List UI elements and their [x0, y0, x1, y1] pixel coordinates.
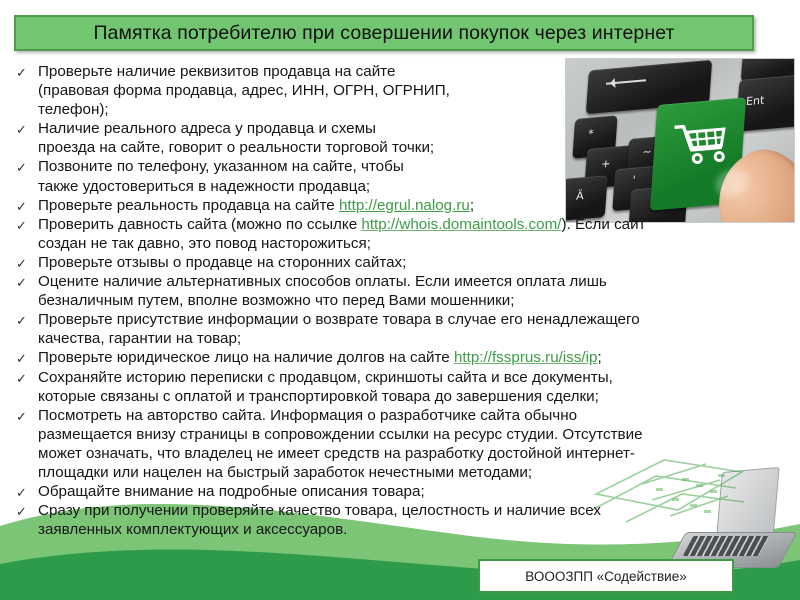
text-run: создан не так давно, это повод насторожи…: [38, 235, 371, 252]
text-run: ;: [597, 349, 601, 366]
checklist-item-check-on-receipt: ✓Сразу при получении проверяйте качество…: [0, 501, 800, 539]
text-run: Проверьте отзывы о продавце на сторонних…: [38, 254, 406, 271]
check-icon: ✓: [16, 273, 27, 292]
check-icon: ✓: [16, 369, 27, 388]
checklist-line: размещается внизу страницы в сопровожден…: [38, 425, 794, 444]
checklist-item-save-history: ✓Сохраняйте историю переписки с продавцо…: [0, 368, 800, 406]
checklist-line: Посмотреть на авторство сайта. Информаци…: [38, 406, 794, 425]
check-icon: ✓: [16, 197, 27, 216]
checklist-line: безналичным путем, вполне возможно что п…: [38, 291, 794, 310]
text-run: размещается внизу страницы в сопровожден…: [38, 426, 643, 443]
external-link[interactable]: http://egrul.nalog.ru: [339, 197, 470, 214]
checklist-item-real-address: ✓Наличие реального адреса у продавца и с…: [0, 119, 800, 157]
checklist-item-egrul-check: ✓Проверьте реальность продавца на сайте …: [0, 196, 800, 215]
text-run: которые связаны с оплатой и транспортиро…: [38, 388, 599, 405]
text-run: Посмотреть на авторство сайта. Информаци…: [38, 407, 577, 424]
organization-badge: ВОООЗПП «Содействие»: [478, 559, 734, 593]
checklist-item-payment-methods: ✓Оцените наличие альтернативных способов…: [0, 272, 800, 310]
text-run: Проверьте реальность продавца на сайте: [38, 197, 339, 214]
text-run: Проверьте юридическое лицо на наличие до…: [38, 349, 454, 366]
text-run: проезда на сайте, говорит о реальности т…: [38, 139, 434, 156]
check-icon: ✓: [16, 254, 27, 273]
text-run: заявленных комплектующих и аксессуаров.: [38, 521, 347, 538]
checklist-line: Проверьте реальность продавца на сайте h…: [38, 196, 794, 215]
checklist-line: Наличие реального адреса у продавца и сх…: [38, 119, 794, 138]
checklist-line: которые связаны с оплатой и транспортиро…: [38, 387, 794, 406]
checklist-line: Сразу при получении проверяйте качество …: [38, 501, 794, 520]
checklist-line: площадки или нацелен на быстрый заработо…: [38, 463, 794, 482]
text-run: также удостовериться в надежности продав…: [38, 178, 370, 195]
text-run: ). Если сайт: [561, 216, 645, 233]
text-run: площадки или нацелен на быстрый заработо…: [38, 464, 532, 481]
checklist-item-requisites: ✓Проверьте наличие реквизитов продавца н…: [0, 62, 800, 119]
checklist-item-site-authorship: ✓Посмотреть на авторство сайта. Информац…: [0, 406, 800, 482]
check-icon: ✓: [16, 483, 27, 502]
checklist-line: Позвоните по телефону, указанном на сайт…: [38, 157, 794, 176]
check-icon: ✓: [16, 63, 27, 82]
checklist-line: Проверьте отзывы о продавце на сторонних…: [38, 253, 794, 272]
page-title: Памятка потребителю при совершении покуп…: [93, 22, 674, 45]
checklist-line: может означать, что владелец не имеет ср…: [38, 444, 794, 463]
checklist-line: Проверьте наличие реквизитов продавца на…: [38, 62, 794, 81]
check-icon: ✓: [16, 311, 27, 330]
header-band: Памятка потребителю при совершении покуп…: [14, 15, 754, 51]
text-run: может означать, что владелец не имеет ср…: [38, 445, 635, 462]
text-run: Сохраняйте историю переписки с продавцом…: [38, 369, 613, 386]
checklist-item-whois-check: ✓Проверить давность сайта (можно по ссыл…: [0, 215, 800, 253]
checklist-item-fssp-debts: ✓Проверьте юридическое лицо на наличие д…: [0, 348, 800, 367]
checklist-line: проезда на сайте, говорит о реальности т…: [38, 138, 794, 157]
check-icon: ✓: [16, 502, 27, 521]
checklist-line: Проверить давность сайта (можно по ссылк…: [38, 215, 794, 234]
text-run: качества, гарантии на товар;: [38, 330, 241, 347]
checklist-line: (правовая форма продавца, адрес, ИНН, ОГ…: [38, 81, 794, 100]
text-run: Проверить давность сайта (можно по ссылк…: [38, 216, 361, 233]
text-run: Оцените наличие альтернативных способов …: [38, 273, 607, 290]
checklist-line: заявленных комплектующих и аксессуаров.: [38, 520, 794, 539]
text-run: (правовая форма продавца, адрес, ИНН, ОГ…: [38, 82, 450, 99]
text-run: Сразу при получении проверяйте качество …: [38, 502, 601, 519]
external-link[interactable]: http://fssprus.ru/iss/ip: [454, 349, 598, 366]
text-run: Проверьте наличие реквизитов продавца на…: [38, 63, 395, 80]
text-run: Позвоните по телефону, указанном на сайт…: [38, 158, 404, 175]
check-icon: ✓: [16, 216, 27, 235]
checklist-line: телефон);: [38, 100, 794, 119]
checklist-line: Обращайте внимание на подробные описания…: [38, 482, 794, 501]
checklist-line: создан не так давно, это повод насторожи…: [38, 234, 794, 253]
checklist-item-phone-call: ✓Позвоните по телефону, указанном на сай…: [0, 157, 800, 195]
checklist-line: также удостовериться в надежности продав…: [38, 177, 794, 196]
checklist-line: Проверьте присутствие информации о возвр…: [38, 310, 794, 329]
external-link[interactable]: http://whois.domaintools.com/: [361, 216, 561, 233]
checklist-line: Сохраняйте историю переписки с продавцом…: [38, 368, 794, 387]
check-icon: ✓: [16, 120, 27, 139]
checklist-item-product-description: ✓Обращайте внимание на подробные описани…: [0, 482, 800, 501]
checklist-line: Проверьте юридическое лицо на наличие до…: [38, 348, 794, 367]
organization-name: ВОООЗПП «Содействие»: [525, 569, 686, 584]
checklist-line: Оцените наличие альтернативных способов …: [38, 272, 794, 291]
checklist-item-reviews: ✓Проверьте отзывы о продавце на сторонни…: [0, 253, 800, 272]
text-run: ;: [470, 197, 474, 214]
check-icon: ✓: [16, 349, 27, 368]
text-run: Обращайте внимание на подробные описания…: [38, 483, 425, 500]
checklist-line: качества, гарантии на товар;: [38, 329, 794, 348]
text-run: Проверьте присутствие информации о возвр…: [38, 311, 640, 328]
text-run: безналичным путем, вполне возможно что п…: [38, 292, 515, 309]
check-icon: ✓: [16, 158, 27, 177]
checklist-item-return-policy: ✓Проверьте присутствие информации о возв…: [0, 310, 800, 348]
text-run: телефон);: [38, 101, 109, 118]
consumer-checklist: ✓Проверьте наличие реквизитов продавца н…: [0, 62, 800, 539]
check-icon: ✓: [16, 407, 27, 426]
text-run: Наличие реального адреса у продавца и сх…: [38, 120, 376, 137]
